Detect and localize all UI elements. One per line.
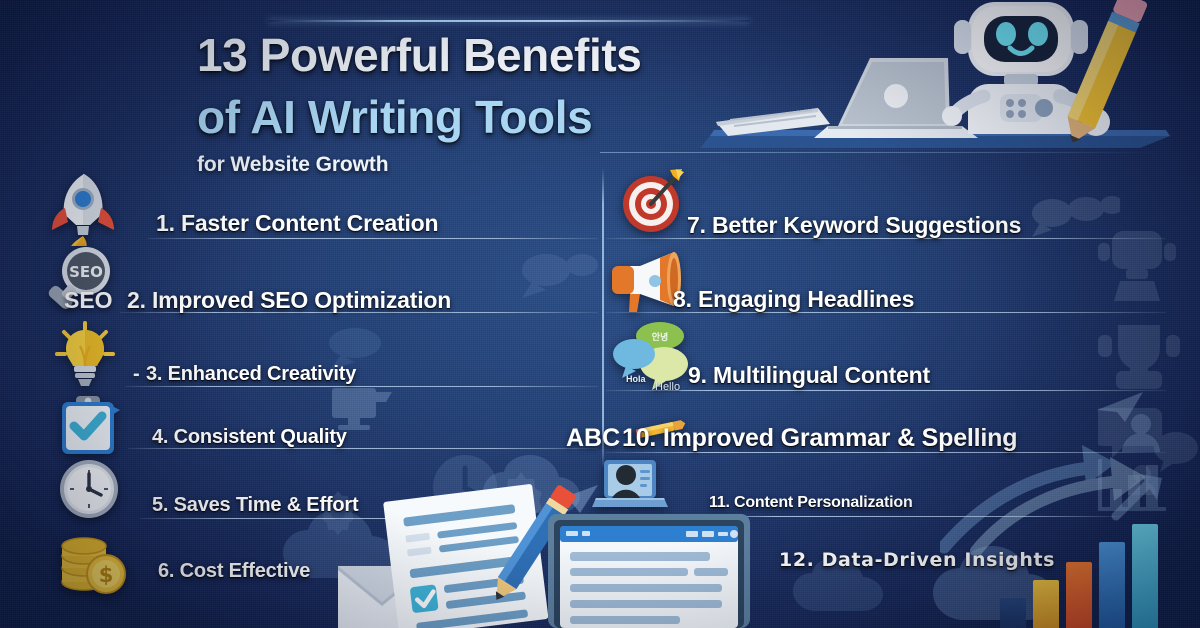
speech-bubbles-icon: 안녕 [612,320,694,390]
bubble-label-hola: Hola [626,374,646,384]
watermark-speech-bubbles-top-right [1030,195,1120,240]
svg-text:안녕: 안녕 [652,331,669,343]
svg-text:$: $ [99,563,114,587]
title-subtitle: for Website Growth [197,153,817,177]
benefit-prefix-3: - [133,363,140,386]
rule-row-1 [148,238,598,239]
chart-bar-3 [1066,562,1092,628]
document-tablet-scene [330,470,750,628]
bar-chart-icon [1000,508,1158,628]
watermark-speech-bubbles-mid-left [520,250,608,305]
chart-bar-2 [1033,580,1059,628]
chart-bar-4 [1099,542,1125,628]
header-top-rule [268,20,750,22]
benefit-label-8: 8. Engaging Headlines [673,286,914,313]
benefit-prefix-2: SEO [64,287,113,314]
clock-icon [58,458,120,520]
benefit-label-2: 2. Improved SEO Optimization [127,287,451,314]
robot-laptop-scene [700,0,1200,156]
benefit-label-1: 1. Faster Content Creation [156,210,438,237]
benefit-label-7: 7. Better Keyword Suggestions [687,212,1021,239]
gold-coins-icon: $ [56,530,128,596]
user-avatar-watermark-icon [1120,412,1162,452]
benefit-label-3: 3. Enhanced Creativity [146,363,356,386]
watermark-speech-bubbles-right [1098,400,1198,495]
benefit-label-6: 6. Cost Effective [158,560,310,583]
svg-text:SEO: SEO [69,263,103,281]
chart-bar-5 [1132,524,1158,628]
benefit-label-4: 4. Consistent Quality [152,426,347,449]
bubble-label-hello: Hello [655,381,680,393]
benefit-label-5: 5. Saves Time & Effort [152,494,358,517]
infographic-poster: 13 Powerful Benefits of AI Writing Tools… [0,0,1200,628]
watermark-robot-right [1092,315,1186,399]
chart-bar-1 [1000,598,1026,628]
paper-plane-icon [1095,390,1145,424]
rocket-icon [44,168,122,246]
clipboard-check-icon [56,392,120,456]
benefit-prefix-10: ABC [566,424,620,453]
lightbulb-icon [54,318,116,388]
rule-row-3 [125,386,598,387]
column-divider [602,168,604,468]
rule-row-9 [606,390,1166,391]
benefit-label-9: 9. Multilingual Content [688,362,930,389]
benefit-label-10: 10. Improved Grammar & Spelling [622,424,1017,453]
target-dartboard-icon [618,168,684,234]
